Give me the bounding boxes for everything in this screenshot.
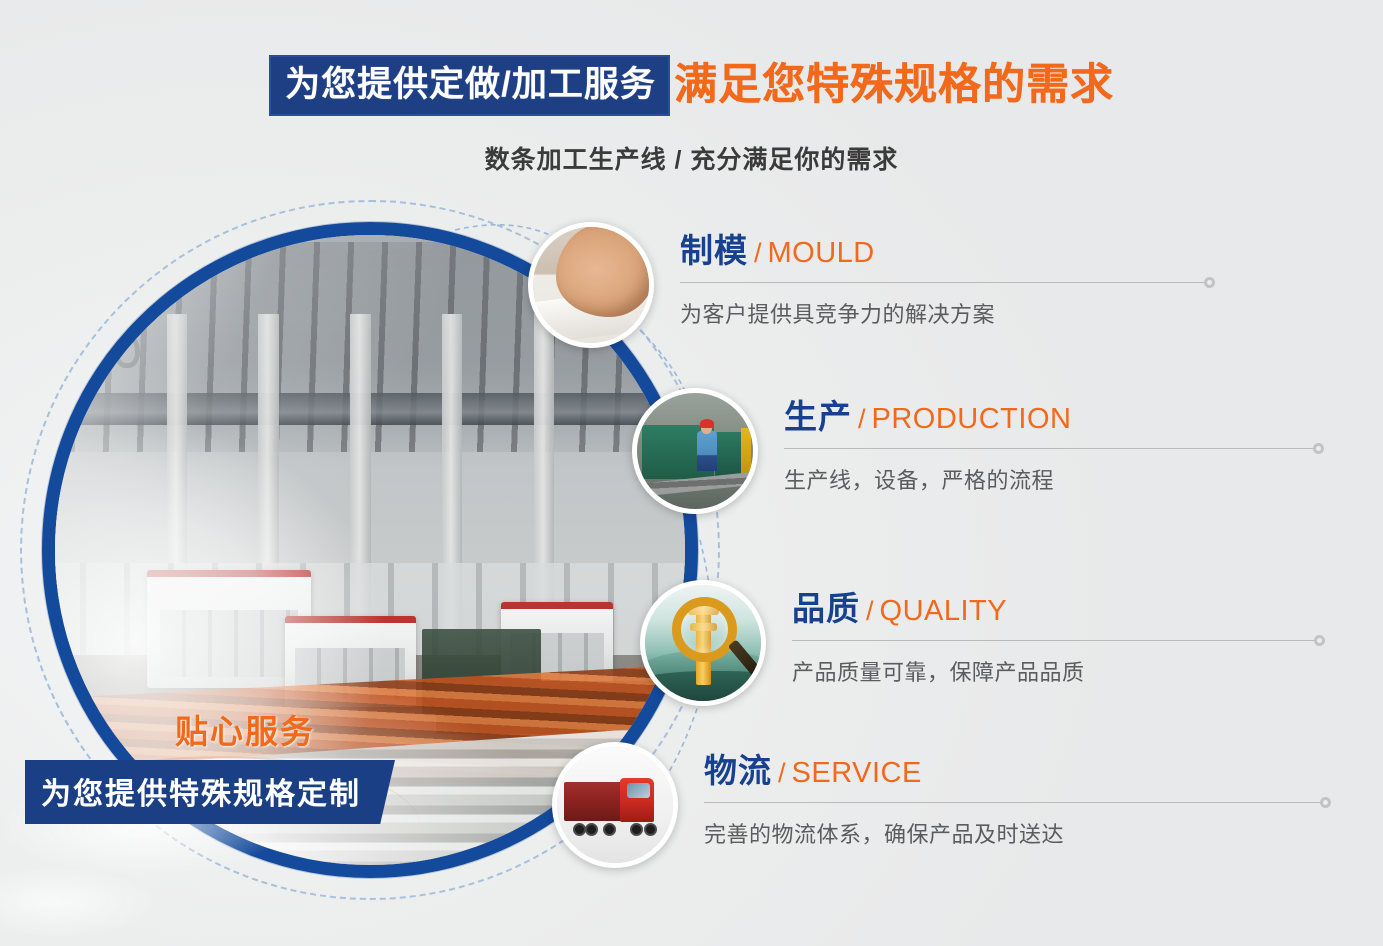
production-icon: [632, 388, 758, 514]
step-description: 为客户提供具竞争力的解决方案: [680, 297, 1240, 329]
mould-icon: [528, 222, 654, 348]
step-end-dot: [1320, 797, 1331, 808]
steps-list: 制模/MOULD 为客户提供具竞争力的解决方案: [0, 0, 1383, 946]
step-item-mould[interactable]: 制模/MOULD 为客户提供具竞争力的解决方案: [528, 222, 1240, 348]
step-rule: [792, 640, 1320, 641]
step-end-dot: [1314, 635, 1325, 646]
step-slash: /: [778, 758, 786, 788]
step-heading: 制模/MOULD: [680, 234, 1240, 268]
step-title-en: PRODUCTION: [872, 403, 1072, 435]
step-rule: [784, 448, 1319, 449]
step-heading: 物流/SERVICE: [704, 754, 1344, 788]
step-title-cn: 生产: [784, 398, 852, 435]
step-slash: /: [866, 596, 874, 626]
step-description: 生产线，设备，严格的流程: [784, 463, 1344, 495]
step-item-production[interactable]: 生产/PRODUCTION 生产线，设备，严格的流程: [632, 388, 1344, 514]
step-title-en: SERVICE: [792, 757, 922, 789]
step-title-cn: 制模: [680, 232, 748, 269]
promo-banner: 为您提供定做/加工服务 满足您特殊规格的需求 数条加工生产线 / 充分满足你的需…: [0, 0, 1383, 946]
step-item-quality[interactable]: 品质/QUALITY 产品质量可靠，保障产品品质: [640, 580, 1352, 706]
logistics-icon: [552, 742, 678, 868]
step-heading: 生产/PRODUCTION: [784, 400, 1344, 434]
quality-icon: [640, 580, 766, 706]
step-slash: /: [754, 238, 762, 268]
step-title-cn: 品质: [792, 590, 860, 627]
step-end-dot: [1313, 443, 1324, 454]
step-slash: /: [858, 404, 866, 434]
step-end-dot: [1204, 277, 1215, 288]
step-item-logistics[interactable]: 物流/SERVICE 完善的物流体系，确保产品及时送达: [552, 742, 1344, 868]
step-description: 完善的物流体系，确保产品及时送达: [704, 817, 1344, 849]
step-title-en: QUALITY: [880, 595, 1008, 627]
step-title-cn: 物流: [704, 752, 772, 789]
step-rule: [704, 802, 1326, 803]
step-rule: [680, 282, 1210, 283]
step-heading: 品质/QUALITY: [792, 592, 1352, 626]
step-title-en: MOULD: [768, 237, 875, 269]
step-description: 产品质量可靠，保障产品品质: [792, 655, 1352, 687]
